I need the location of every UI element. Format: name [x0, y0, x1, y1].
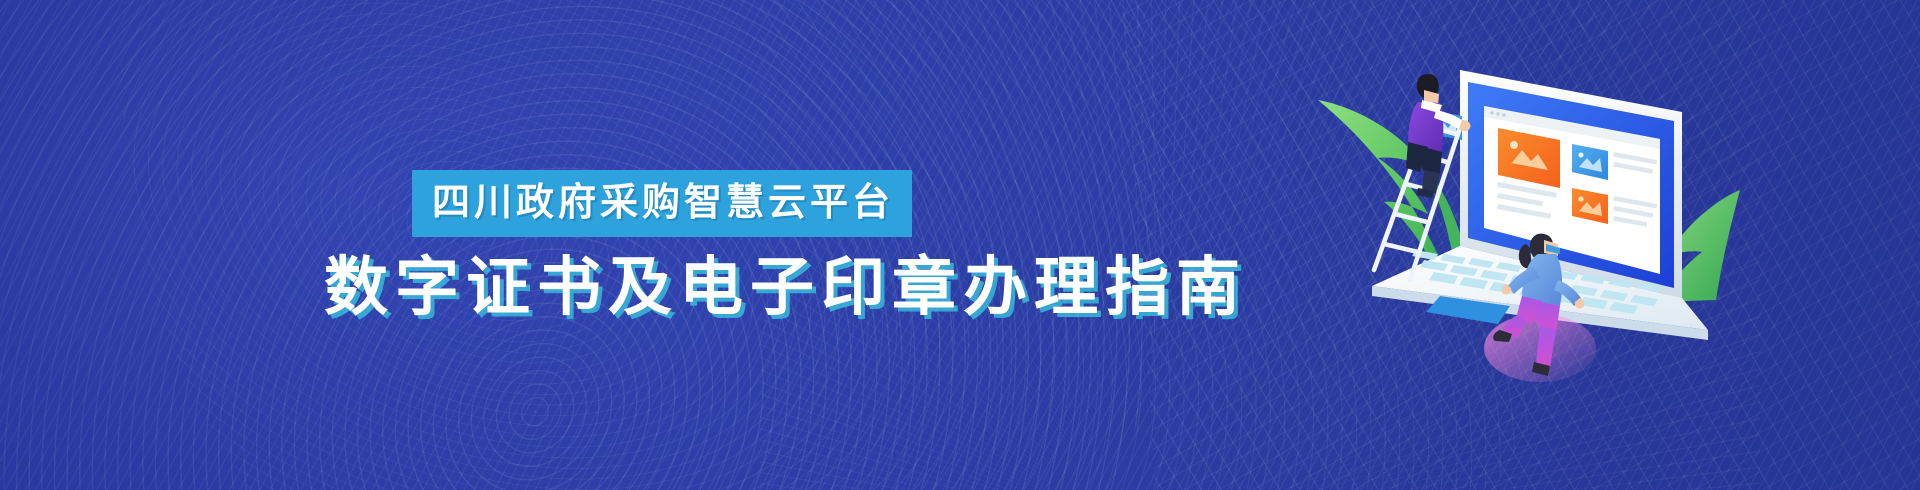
platform-name-badge: 四川政府采购智慧云平台	[412, 170, 912, 237]
banner-text-block: 四川政府采购智慧云平台 数字证书及电子印章办理指南	[412, 170, 1247, 319]
promo-banner: 四川政府采购智慧云平台 数字证书及电子印章办理指南	[0, 0, 1920, 490]
isometric-laptop-illustration	[1312, 48, 1742, 378]
banner-title: 数字证书及电子印章办理指南	[324, 255, 1247, 319]
